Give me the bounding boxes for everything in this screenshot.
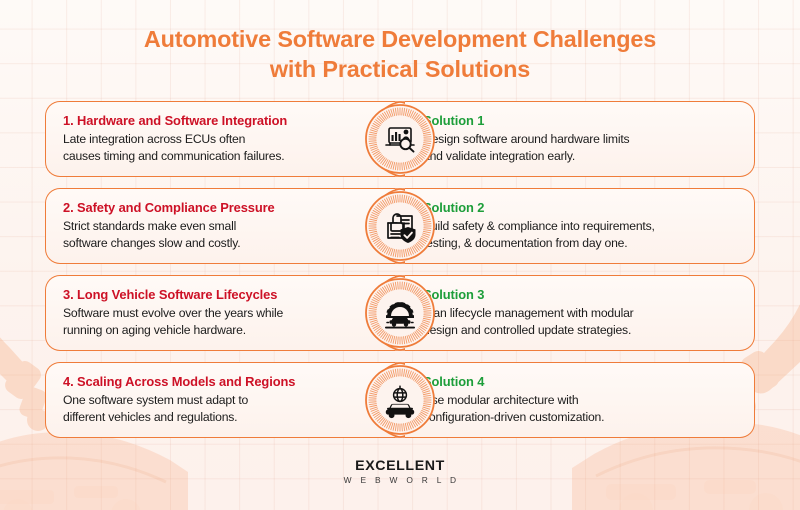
solution-body: Plan lifecycle management with modular d…: [423, 305, 740, 338]
page-title-line-1: Automotive Software Development Challeng…: [144, 26, 656, 52]
challenge-solution-row: 4. Scaling Across Models and Regions One…: [45, 362, 755, 438]
solution-card[interactable]: Solution 2 Build safety & compliance int…: [405, 188, 755, 264]
solution-card[interactable]: Solution 4 Use modular architecture with…: [405, 362, 755, 438]
challenge-heading: 2. Safety and Compliance Pressure: [63, 200, 381, 215]
solution-card[interactable]: Solution 1 Design software around hardwa…: [405, 101, 755, 177]
challenge-body: Late integration across ECUs often cause…: [63, 131, 381, 164]
solution-heading: Solution 1: [423, 113, 740, 128]
challenge-body: Strict standards make even small softwar…: [63, 218, 381, 251]
brand-logo: EXCELLENT W E B W O R L D: [0, 459, 800, 485]
solution-card[interactable]: Solution 3 Plan lifecycle management wit…: [405, 275, 755, 351]
challenge-heading: 3. Long Vehicle Software Lifecycles: [63, 287, 381, 302]
challenge-solution-row: 3. Long Vehicle Software Lifecycles Soft…: [45, 275, 755, 351]
page-title: Automotive Software Development Challeng…: [0, 24, 800, 85]
solution-heading: Solution 3: [423, 287, 740, 302]
challenge-card[interactable]: 2. Safety and Compliance Pressure Strict…: [45, 188, 395, 264]
document-lock-shield-check-icon: [364, 190, 436, 262]
challenge-heading: 1. Hardware and Software Integration: [63, 113, 381, 128]
challenge-solution-row: 2. Safety and Compliance Pressure Strict…: [45, 188, 755, 264]
infographic-canvas: Automotive Software Development Challeng…: [0, 0, 800, 510]
challenge-body: One software system must adapt to differ…: [63, 392, 381, 425]
challenge-heading: 4. Scaling Across Models and Regions: [63, 374, 381, 389]
challenge-body: Software must evolve over the years whil…: [63, 305, 381, 338]
brand-logo-main: EXCELLENT: [0, 459, 800, 474]
solution-heading: Solution 4: [423, 374, 740, 389]
gear-car-lifecycle-icon: [364, 277, 436, 349]
solution-body: Design software around hardware limits a…: [423, 131, 740, 164]
challenge-card[interactable]: 4. Scaling Across Models and Regions One…: [45, 362, 395, 438]
challenge-solution-row: 1. Hardware and Software Integration Lat…: [45, 101, 755, 177]
challenge-card[interactable]: 3. Long Vehicle Software Lifecycles Soft…: [45, 275, 395, 351]
solution-heading: Solution 2: [423, 200, 740, 215]
brand-logo-sub: W E B W O R L D: [0, 475, 800, 485]
globe-car-regions-icon: [364, 364, 436, 436]
challenge-card[interactable]: 1. Hardware and Software Integration Lat…: [45, 101, 395, 177]
page-title-line-2: with Practical Solutions: [0, 54, 800, 84]
dashboard-analysis-magnifier-icon: [364, 103, 436, 175]
solution-body: Use modular architecture with configurat…: [423, 392, 740, 425]
solution-body: Build safety & compliance into requireme…: [423, 218, 740, 251]
